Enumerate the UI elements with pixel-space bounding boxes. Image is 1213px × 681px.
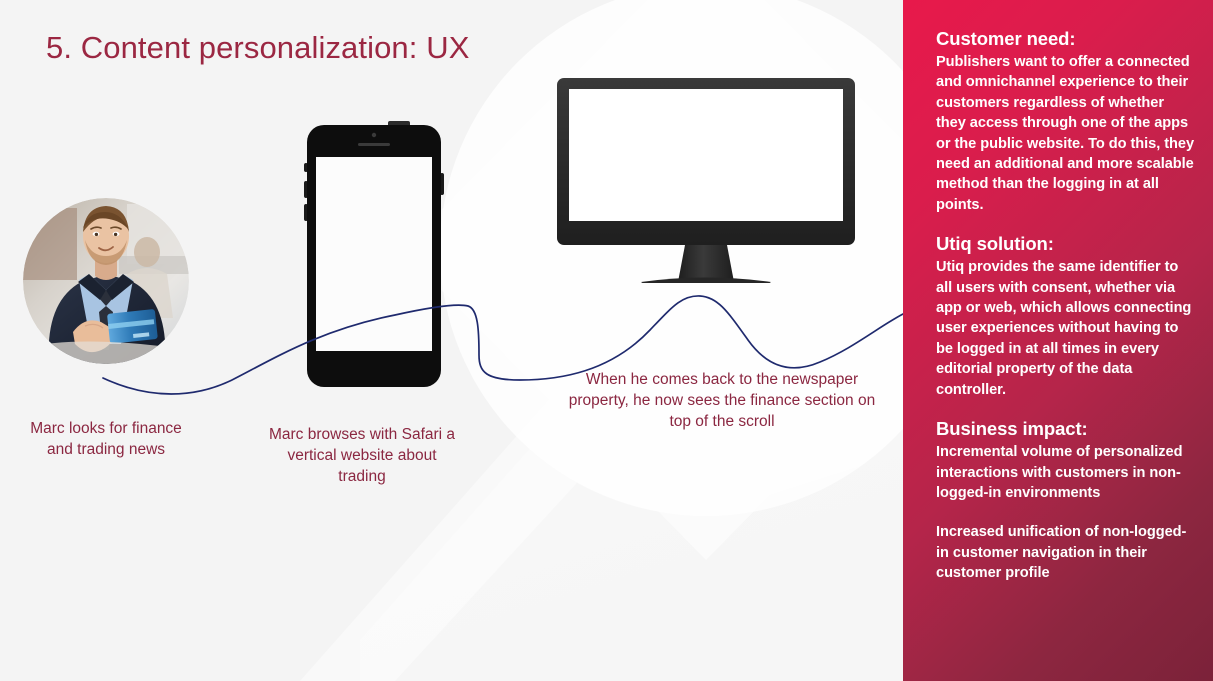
panel-block-business-impact: Business impact: Incremental volume of p… [936,417,1195,583]
panel-text-customer-need: Publishers want to offer a connected and… [936,52,1195,215]
journey-caption-2: Marc browses with Safari a vertical webs… [263,424,461,487]
panel-heading-customer-need: Customer need: [936,27,1195,51]
panel-text-utiq-solution: Utiq provides the same identifier to all… [936,257,1195,400]
person-with-credit-card-photo [23,198,189,364]
panel-text-business-impact-1: Incremental volume of personalized inter… [936,442,1195,503]
panel-text-business-impact-2: Increased unification of non-logged-in c… [936,522,1195,583]
panel-heading-utiq-solution: Utiq solution: [936,232,1195,256]
journey-caption-3: When he comes back to the newspaper prop… [563,369,881,432]
info-panel: Customer need: Publishers want to offer … [903,0,1213,681]
panel-block-utiq-solution: Utiq solution: Utiq provides the same id… [936,232,1195,400]
desktop-monitor-icon [557,78,855,283]
slide-canvas: 5. Content personalization: UX [0,0,1213,681]
page-title: 5. Content personalization: UX [46,30,469,66]
smartphone-icon [296,121,452,391]
panel-block-customer-need: Customer need: Publishers want to offer … [936,27,1195,215]
journey-caption-1: Marc looks for finance and trading news [22,418,190,460]
panel-heading-business-impact: Business impact: [936,417,1195,441]
